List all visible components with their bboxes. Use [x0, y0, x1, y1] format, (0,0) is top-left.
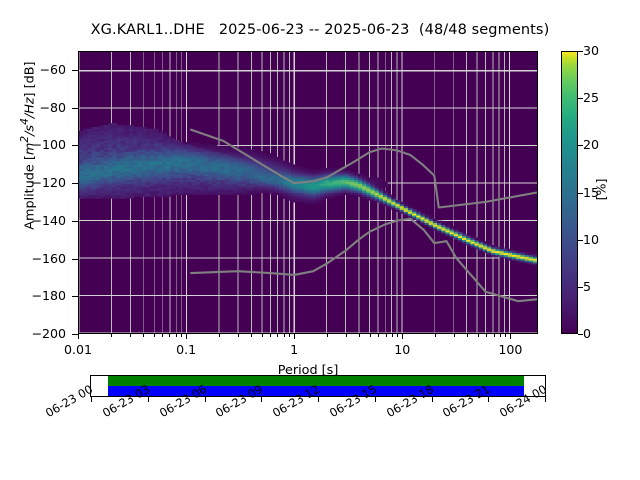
- x-tick: [270, 334, 271, 337]
- x-tick: [169, 334, 170, 337]
- y-tick-label: −180: [22, 288, 66, 303]
- x-tick-label: 100: [480, 342, 540, 357]
- timeline-tick: [261, 397, 262, 402]
- y-tick: [72, 108, 78, 109]
- timeline-tick: [375, 397, 376, 402]
- x-tick: [219, 334, 220, 337]
- ppsd-axes: [78, 51, 538, 334]
- y-tick: [72, 296, 78, 297]
- y-tick-label: −200: [22, 326, 66, 341]
- x-tick: [277, 334, 278, 337]
- y-tick: [72, 70, 78, 71]
- x-tick: [262, 334, 263, 337]
- x-tick: [143, 334, 144, 337]
- y-tick-label: −160: [22, 251, 66, 266]
- x-tick: [500, 334, 501, 337]
- x-tick-label: 1: [264, 342, 324, 357]
- colorbar: [561, 51, 578, 334]
- x-tick: [392, 334, 393, 337]
- x-tick: [402, 334, 403, 339]
- y-tick: [72, 183, 78, 184]
- colorbar-tick-label: 20: [583, 137, 599, 152]
- x-tick: [289, 334, 290, 337]
- x-tick: [130, 334, 131, 337]
- figure-title: XG.KARL1..DHE 2025-06-23 -- 2025-06-23 (…: [0, 22, 640, 38]
- x-tick: [370, 334, 371, 337]
- colorbar-tick-label: 0: [583, 326, 591, 341]
- x-tick: [454, 334, 455, 337]
- colorbar-tick-label: 25: [583, 90, 599, 105]
- timeline-tick: [148, 397, 149, 402]
- timeline-tick: [545, 397, 546, 402]
- x-tick: [181, 334, 182, 337]
- colorbar-tick-label: 30: [583, 43, 599, 58]
- x-tick: [78, 334, 79, 339]
- x-tick: [294, 334, 295, 339]
- y-tick: [72, 221, 78, 222]
- x-tick-label: 0.1: [156, 342, 216, 357]
- y-tick: [72, 145, 78, 146]
- timeline-tick-label: 06-23 00: [43, 382, 95, 420]
- timeline-tick: [488, 397, 489, 402]
- x-tick: [510, 334, 511, 339]
- x-tick: [176, 334, 177, 337]
- x-tick-label: 0.01: [48, 342, 108, 357]
- y-tick-label: −60: [22, 62, 66, 77]
- x-tick: [397, 334, 398, 337]
- x-tick: [435, 334, 436, 337]
- ppsd-figure: XG.KARL1..DHE 2025-06-23 -- 2025-06-23 (…: [0, 0, 640, 480]
- x-tick: [111, 334, 112, 337]
- x-tick: [154, 334, 155, 337]
- timeline-tick: [318, 397, 319, 402]
- x-tick: [494, 334, 495, 337]
- x-tick: [359, 334, 360, 337]
- y-tick-label: −120: [22, 175, 66, 190]
- y-tick-label: −140: [22, 213, 66, 228]
- x-tick: [251, 334, 252, 337]
- x-tick: [505, 334, 506, 337]
- x-tick-label: 10: [372, 342, 432, 357]
- x-tick: [327, 334, 328, 337]
- x-tick: [238, 334, 239, 337]
- x-tick: [386, 334, 387, 337]
- colorbar-tick-label: 5: [583, 279, 591, 294]
- x-tick: [162, 334, 163, 337]
- x-tick: [284, 334, 285, 337]
- x-tick: [186, 334, 187, 339]
- timeline-tick: [205, 397, 206, 402]
- colorbar-tick-label: 10: [583, 232, 599, 247]
- colorbar-label: [%]: [594, 160, 609, 220]
- x-tick: [346, 334, 347, 337]
- x-tick: [378, 334, 379, 337]
- y-tick: [72, 259, 78, 260]
- x-tick: [467, 334, 468, 337]
- peterson-noise-models: [79, 52, 537, 333]
- y-tick-label: −100: [22, 137, 66, 152]
- x-tick: [478, 334, 479, 337]
- timeline-tick: [432, 397, 433, 402]
- y-tick-label: −80: [22, 100, 66, 115]
- nhnm-curve: [191, 130, 537, 208]
- x-tick: [486, 334, 487, 337]
- timeline-tick: [91, 397, 92, 402]
- nlnm-curve: [191, 219, 537, 301]
